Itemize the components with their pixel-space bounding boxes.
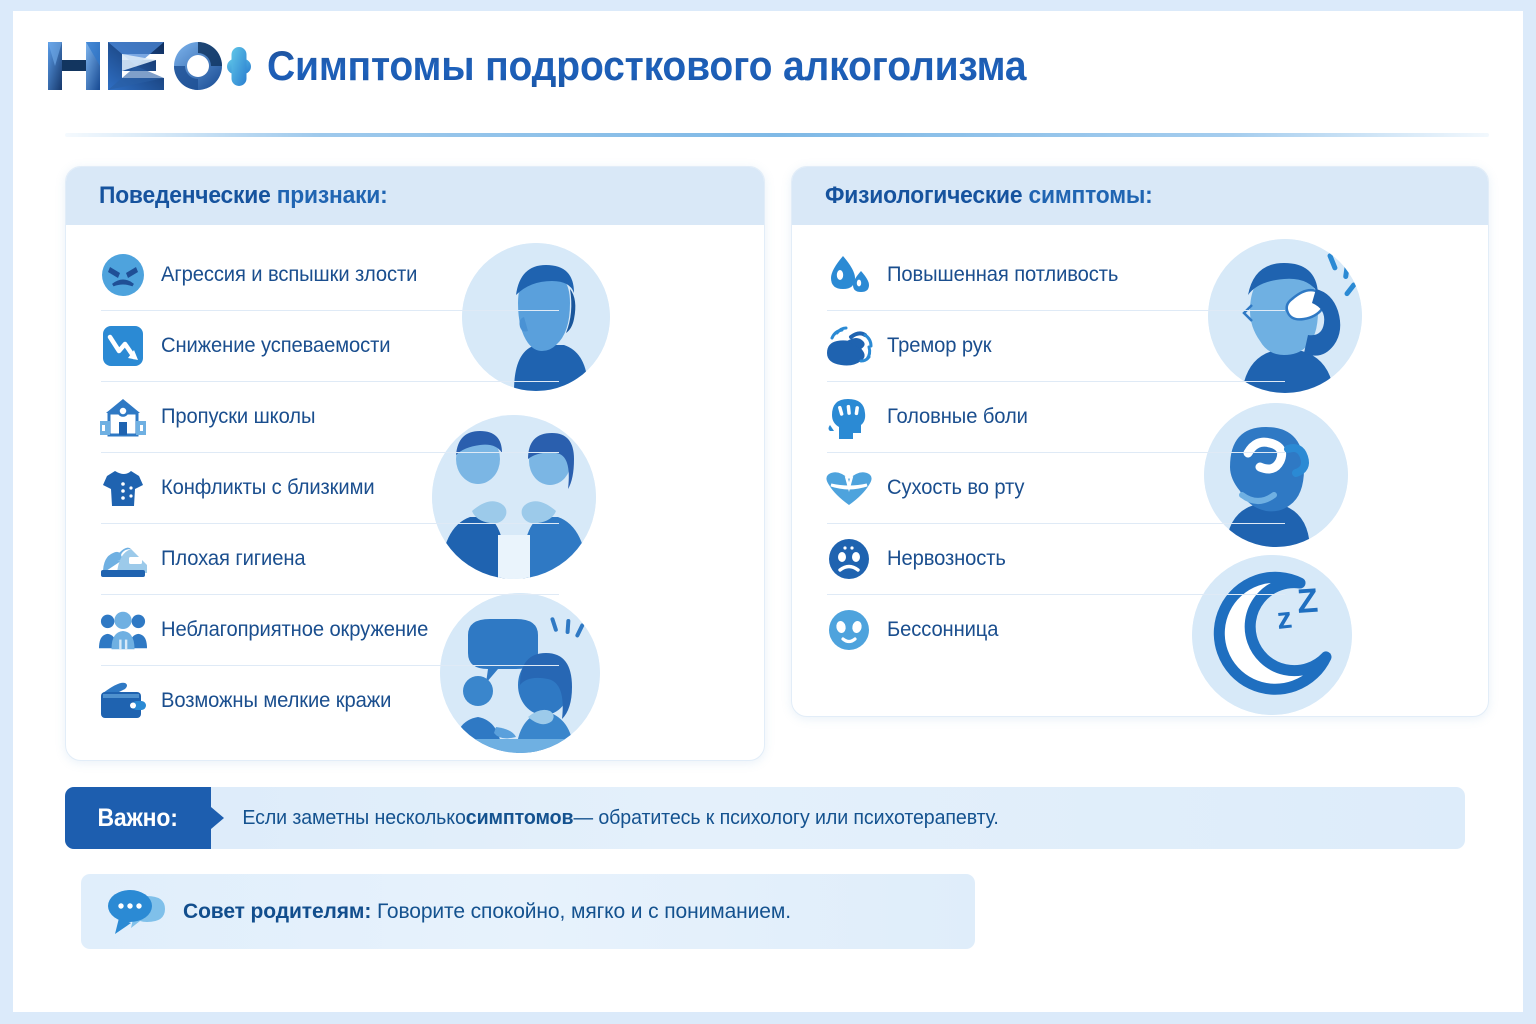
people-group-icon <box>99 606 147 654</box>
card-behavioral-body: Агрессия и вспышки злости Снижение успев… <box>66 225 764 760</box>
list-item[interactable]: Снижение успеваемости <box>99 310 569 381</box>
parents-tip-body: Говорите спокойно, мягко и с пониманием. <box>371 900 791 923</box>
chart-down-icon <box>99 322 147 370</box>
list-item[interactable]: Возможны мелкие кражи <box>99 665 569 736</box>
parents-tip-banner: Совет родителям: Говорите спокойно, мягк… <box>81 874 975 949</box>
list-item-label: Агрессия и вспышки злости <box>161 263 417 287</box>
list-item-label: Тремор рук <box>887 334 991 358</box>
list-item-label: Пропуски школы <box>161 405 315 429</box>
list-item[interactable]: Неблагоприятное окружение <box>99 594 569 665</box>
poster-root: Симптомы подросткового алкоголизма Повед… <box>0 0 1536 1024</box>
poster-sheet: Симптомы подросткового алкоголизма Повед… <box>13 11 1523 1012</box>
poster-header: Симптомы подросткового алкоголизма <box>13 11 1523 139</box>
list-item-label: Неблагоприятное окружение <box>161 618 428 642</box>
card-physiological-title-bold: Физиологические <box>825 182 1022 209</box>
title-divider <box>65 133 1489 137</box>
list-item[interactable]: Повышенная потливость <box>825 239 1295 310</box>
list-item[interactable]: Пропуски школы <box>99 381 569 452</box>
card-behavioral: Поведенческие признаки: <box>65 166 765 761</box>
trembling-hand-icon <box>825 322 873 370</box>
list-item[interactable]: Конфликты с близкими <box>99 452 569 523</box>
card-behavioral-title-light: признаки: <box>271 182 388 209</box>
card-behavioral-title-bold: Поведенческие <box>99 182 271 209</box>
important-banner: Важно: Если заметны несколько симптомов … <box>65 787 1465 849</box>
card-physiological-title: Физиологические симптомы: <box>825 182 1153 210</box>
brand-and-title: Симптомы подросткового алкоголизма <box>46 36 1084 96</box>
list-item[interactable]: Головные боли <box>825 381 1295 452</box>
important-text: Если заметны несколько симптомов — обрат… <box>211 787 1440 849</box>
important-text-after: — обратитесь к психологу или психотерапе… <box>573 807 998 830</box>
sweat-drops-icon <box>825 251 873 299</box>
important-text-bold: симптомов <box>466 807 574 830</box>
parents-tip-bold: Совет родителям: <box>183 900 371 923</box>
important-text-before: Если заметны несколько <box>242 807 465 830</box>
important-tag-label: Важно: <box>98 804 178 833</box>
list-item-label: Бессонница <box>887 618 998 642</box>
list-item[interactable]: Бессонница <box>825 594 1295 665</box>
card-physiological-body: z Z Повыше <box>792 225 1488 716</box>
list-item-label: Нервозность <box>887 547 1006 571</box>
head-pain-icon <box>825 393 873 441</box>
list-item[interactable]: Агрессия и вспышки злости <box>99 239 569 310</box>
parents-tip-text: Совет родителям: Говорите спокойно, мягк… <box>183 900 791 924</box>
school-building-icon <box>99 393 147 441</box>
page-title: Симптомы подросткового алкоголизма <box>267 45 1026 87</box>
svg-text:Z: Z <box>1296 582 1319 621</box>
card-physiological: Физиологические симптомы: <box>791 166 1489 717</box>
trash-bag-icon <box>99 535 147 583</box>
chat-bubbles-icon <box>107 886 169 938</box>
behavioral-symptom-list: Агрессия и вспышки злости Снижение успев… <box>99 239 569 736</box>
list-item-label: Возможны мелкие кражи <box>161 689 391 713</box>
physiological-symptom-list: Повышенная потливость <box>825 239 1295 665</box>
card-behavioral-header: Поведенческие признаки: <box>66 167 764 225</box>
list-item-label: Плохая гигиена <box>161 547 305 571</box>
tshirt-icon <box>99 464 147 512</box>
angry-face-icon <box>99 251 147 299</box>
neo-plus-logo-icon <box>46 36 251 96</box>
list-item[interactable]: Тремор рук <box>825 310 1295 381</box>
insomnia-face-icon <box>825 606 873 654</box>
list-item-label: Повышенная потливость <box>887 263 1118 287</box>
card-behavioral-title: Поведенческие признаки: <box>99 182 388 210</box>
list-item[interactable]: Сухость во рту <box>825 452 1295 523</box>
card-physiological-header: Физиологические симптомы: <box>792 167 1488 225</box>
list-item[interactable]: Плохая гигиена <box>99 523 569 594</box>
list-item-label: Сухость во рту <box>887 476 1024 500</box>
list-item-label: Снижение успеваемости <box>161 334 390 358</box>
list-item-label: Конфликты с близкими <box>161 476 375 500</box>
wallet-icon <box>99 677 147 725</box>
nervous-face-icon <box>825 535 873 583</box>
list-item-label: Головные боли <box>887 405 1028 429</box>
dry-lips-icon <box>825 464 873 512</box>
important-tag: Важно: <box>65 787 211 849</box>
card-physiological-title-light: симптомы: <box>1022 182 1152 209</box>
list-item[interactable]: Нервозность <box>825 523 1295 594</box>
